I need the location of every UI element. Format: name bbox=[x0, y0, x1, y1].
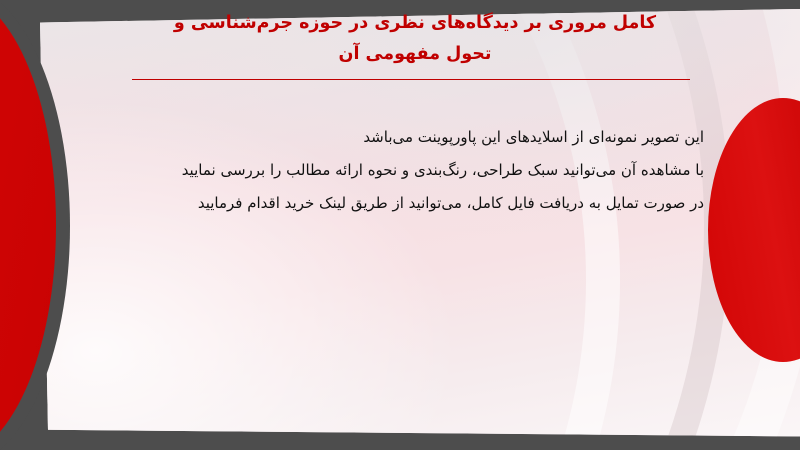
body-line-1: این تصویر نمونه‌ای از اسلایدهای این پاور… bbox=[182, 121, 704, 154]
body-line-2: با مشاهده آن می‌توانید سبک طراحی، رنگ‌بن… bbox=[182, 154, 704, 187]
body-line-3: در صورت تمایل به دریافت فایل کامل، می‌تو… bbox=[182, 187, 704, 220]
slide-title-line-1: کامل مروری بر دیدگاه‌های نظری در حوزه جر… bbox=[120, 8, 710, 39]
slide-title: کامل مروری بر دیدگاه‌های نظری در حوزه جر… bbox=[120, 8, 710, 70]
title-underline-rule bbox=[132, 79, 690, 80]
presentation-slide: کامل مروری بر دیدگاه‌های نظری در حوزه جر… bbox=[0, 0, 800, 450]
slide-body-text: این تصویر نمونه‌ای از اسلایدهای این پاور… bbox=[182, 121, 704, 220]
slide-title-line-2: تحول مفهومی آن bbox=[120, 39, 710, 70]
